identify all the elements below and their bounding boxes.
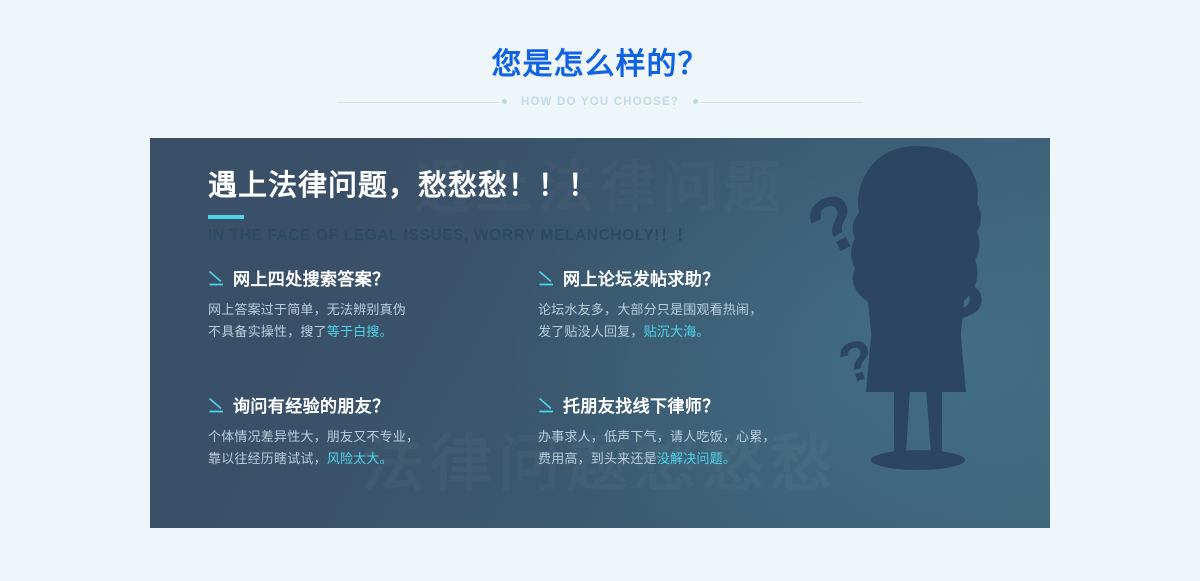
list-item-highlight: 贴沉大海。: [644, 324, 710, 339]
list-item-head: 网上论坛发帖求助？: [538, 270, 868, 290]
list-item-body: 论坛水友多，大部分只是围观看热闹， 发了贴没人回复，贴沉大海。: [538, 299, 868, 343]
svg-text:?: ?: [793, 174, 876, 274]
diagonal-arrow-icon: [538, 397, 556, 414]
list-item-line2: 靠以往经历瞎试试，风险太大。: [208, 448, 538, 470]
diagonal-arrow-icon: [208, 270, 226, 287]
list-item-title: 托朋友找线下律师？: [563, 397, 720, 417]
list-item-body: 办事求人，低声下气，请人吃饭，心累， 费用高，到头来还是没解决问题。: [538, 426, 868, 470]
question-mark-icon: ?: [893, 138, 975, 244]
question-mark-icon: ?: [793, 174, 876, 274]
figure-leg-right: [926, 388, 942, 454]
heading-accent-rule: [208, 215, 244, 219]
problem-items-grid: 网上四处搜索答案？ 网上答案过于简单，无法辨别真伪 不具备实操性，搜了等于白搜。…: [208, 270, 908, 470]
list-item-title: 询问有经验的朋友？: [233, 397, 390, 417]
list-item-line1: 办事求人，低声下气，请人吃饭，心累，: [538, 426, 868, 448]
list-item: 网上四处搜索答案？ 网上答案过于简单，无法辨别真伪 不具备实操性，搜了等于白搜。: [208, 270, 538, 343]
svg-text:?: ?: [920, 259, 994, 365]
svg-text:?: ?: [893, 138, 975, 244]
list-item-highlight: 没解决问题。: [657, 451, 736, 466]
list-item-line1: 网上答案过于简单，无法辨别真伪: [208, 299, 538, 321]
content-panel: 遇上法律问题 法律问题愁愁愁 遇上法律问题，愁愁愁！！！ IN THE FACE…: [150, 138, 1050, 528]
diagonal-arrow-icon: [538, 270, 556, 287]
list-item-highlight: 风险太大。: [327, 451, 393, 466]
list-item-title: 网上论坛发帖求助？: [563, 270, 720, 290]
list-item-head: 托朋友找线下律师？: [538, 397, 868, 417]
list-item-line2-plain: 靠以往经历瞎试试，: [208, 451, 327, 466]
list-item: 托朋友找线下律师？ 办事求人，低声下气，请人吃饭，心累， 费用高，到头来还是没解…: [538, 397, 868, 470]
divider-line: [337, 102, 499, 103]
panel-heading-cn: 遇上法律问题，愁愁愁！！！: [208, 166, 692, 206]
list-item-highlight: 等于白搜。: [327, 324, 393, 339]
divider-right: [693, 98, 863, 106]
list-item-line1: 个体情况差异性大，朋友又不专业，: [208, 426, 538, 448]
list-item-body: 网上答案过于简单，无法辨别真伪 不具备实操性，搜了等于白搜。: [208, 299, 538, 343]
question-mark-icon: ?: [920, 259, 994, 365]
section-header: 您是怎么样的？ HOW DO YOU CHOOSE?: [0, 0, 1200, 138]
list-item-line2: 不具备实操性，搜了等于白搜。: [208, 321, 538, 343]
list-item-head: 网上四处搜索答案？: [208, 270, 538, 290]
list-item-head: 询问有经验的朋友？: [208, 397, 538, 417]
list-item-line2-plain: 不具备实操性，搜了: [208, 324, 327, 339]
list-item-title: 网上四处搜索答案？: [233, 270, 390, 290]
divider-dot: [693, 99, 698, 104]
panel-heading-block: 遇上法律问题，愁愁愁！！！ IN THE FACE OF LEGAL ISSUE…: [208, 166, 692, 246]
list-item-line1: 论坛水友多，大部分只是围观看热闹，: [538, 299, 868, 321]
divider-line: [701, 102, 863, 103]
figure-neck: [900, 248, 934, 272]
list-item-line2: 发了贴没人回复，贴沉大海。: [538, 321, 868, 343]
list-item-body: 个体情况差异性大，朋友又不专业， 靠以往经历瞎试试，风险太大。: [208, 426, 538, 470]
list-item-line2: 费用高，到头来还是没解决问题。: [538, 448, 868, 470]
list-item-line2-plain: 发了贴没人回复，: [538, 324, 644, 339]
page-title: 您是怎么样的？: [0, 46, 1200, 84]
list-item: 询问有经验的朋友？ 个体情况差异性大，朋友又不专业， 靠以往经历瞎试试，风险太大…: [208, 397, 538, 470]
subtitle-row: HOW DO YOU CHOOSE?: [0, 90, 1200, 114]
list-item: 网上论坛发帖求助？ 论坛水友多，大部分只是围观看热闹， 发了贴没人回复，贴沉大海…: [538, 270, 868, 343]
list-item-line2-plain: 费用高，到头来还是: [538, 451, 657, 466]
panel-heading-en: IN THE FACE OF LEGAL ISSUES, WORRY MELAN…: [208, 226, 692, 246]
divider-dot: [502, 99, 507, 104]
divider-left: [337, 98, 507, 106]
svg-text:?: ?: [897, 146, 983, 265]
page-subtitle-en: HOW DO YOU CHOOSE?: [521, 96, 679, 108]
diagonal-arrow-icon: [208, 397, 226, 414]
question-mark-icon: ?: [897, 146, 983, 265]
